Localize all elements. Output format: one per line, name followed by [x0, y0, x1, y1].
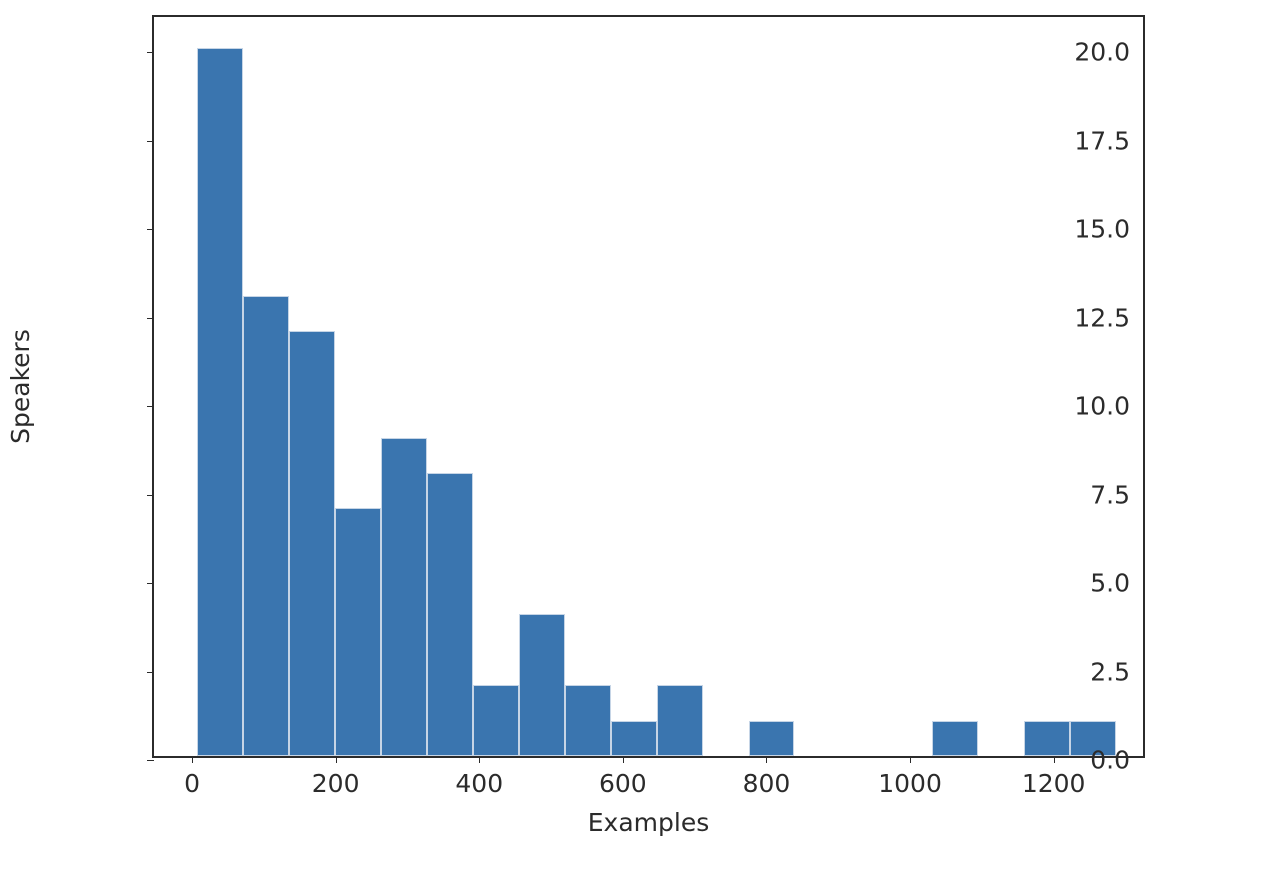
x-tick-label: 200: [312, 771, 360, 796]
x-tick-mark: [336, 756, 337, 763]
x-tick-mark: [766, 756, 767, 763]
histogram-bar: [749, 721, 795, 756]
histogram-bar: [519, 614, 565, 756]
y-tick-label: 12.5: [1074, 305, 1130, 330]
y-tick-mark: [147, 760, 154, 761]
histogram-bar: [932, 721, 978, 756]
y-tick-mark: [147, 583, 154, 584]
histogram-bar: [197, 48, 243, 756]
x-tick-label: 0: [184, 771, 200, 796]
histogram-figure: Speakers 020040060080010001200 0.02.55.0…: [0, 0, 1270, 874]
histogram-bar: [565, 685, 611, 756]
y-tick-label: 2.5: [1090, 659, 1130, 684]
y-tick-mark: [147, 406, 154, 407]
y-axis-label: Speakers: [0, 15, 40, 758]
x-tick-mark: [1054, 756, 1055, 763]
y-tick-mark: [147, 318, 154, 319]
histogram-bar: [1024, 721, 1070, 756]
histogram-bar: [427, 473, 473, 756]
y-tick-label: 15.0: [1074, 217, 1130, 242]
x-axis-label: Examples: [152, 808, 1145, 837]
histogram-bar: [611, 721, 657, 756]
y-tick-label: 20.0: [1074, 40, 1130, 65]
x-tick-label: 800: [743, 771, 791, 796]
histogram-bar: [473, 685, 519, 756]
histogram-bar: [381, 438, 427, 756]
histogram-bar: [335, 508, 381, 756]
histogram-bar: [657, 685, 703, 756]
x-tick-label: 600: [599, 771, 647, 796]
y-tick-label: 0.0: [1090, 748, 1130, 773]
histogram-bar: [289, 331, 335, 756]
x-tick-mark: [192, 756, 193, 763]
y-tick-label: 5.0: [1090, 571, 1130, 596]
y-tick-mark: [147, 141, 154, 142]
plot-axes: 020040060080010001200 0.02.55.07.510.012…: [152, 15, 1145, 758]
x-tick-label: 400: [455, 771, 503, 796]
y-tick-mark: [147, 495, 154, 496]
y-tick-mark: [147, 672, 154, 673]
y-tick-mark: [147, 229, 154, 230]
x-tick-mark: [910, 756, 911, 763]
y-tick-mark: [147, 52, 154, 53]
y-tick-label: 7.5: [1090, 482, 1130, 507]
x-tick-mark: [623, 756, 624, 763]
x-tick-label: 1200: [1022, 771, 1086, 796]
x-tick-label: 1000: [878, 771, 942, 796]
histogram-bar: [243, 296, 289, 756]
y-tick-label: 10.0: [1074, 394, 1130, 419]
y-axis-label-text: Speakers: [6, 329, 35, 444]
y-tick-label: 17.5: [1074, 128, 1130, 153]
plot-area: [154, 17, 1143, 756]
x-tick-mark: [479, 756, 480, 763]
